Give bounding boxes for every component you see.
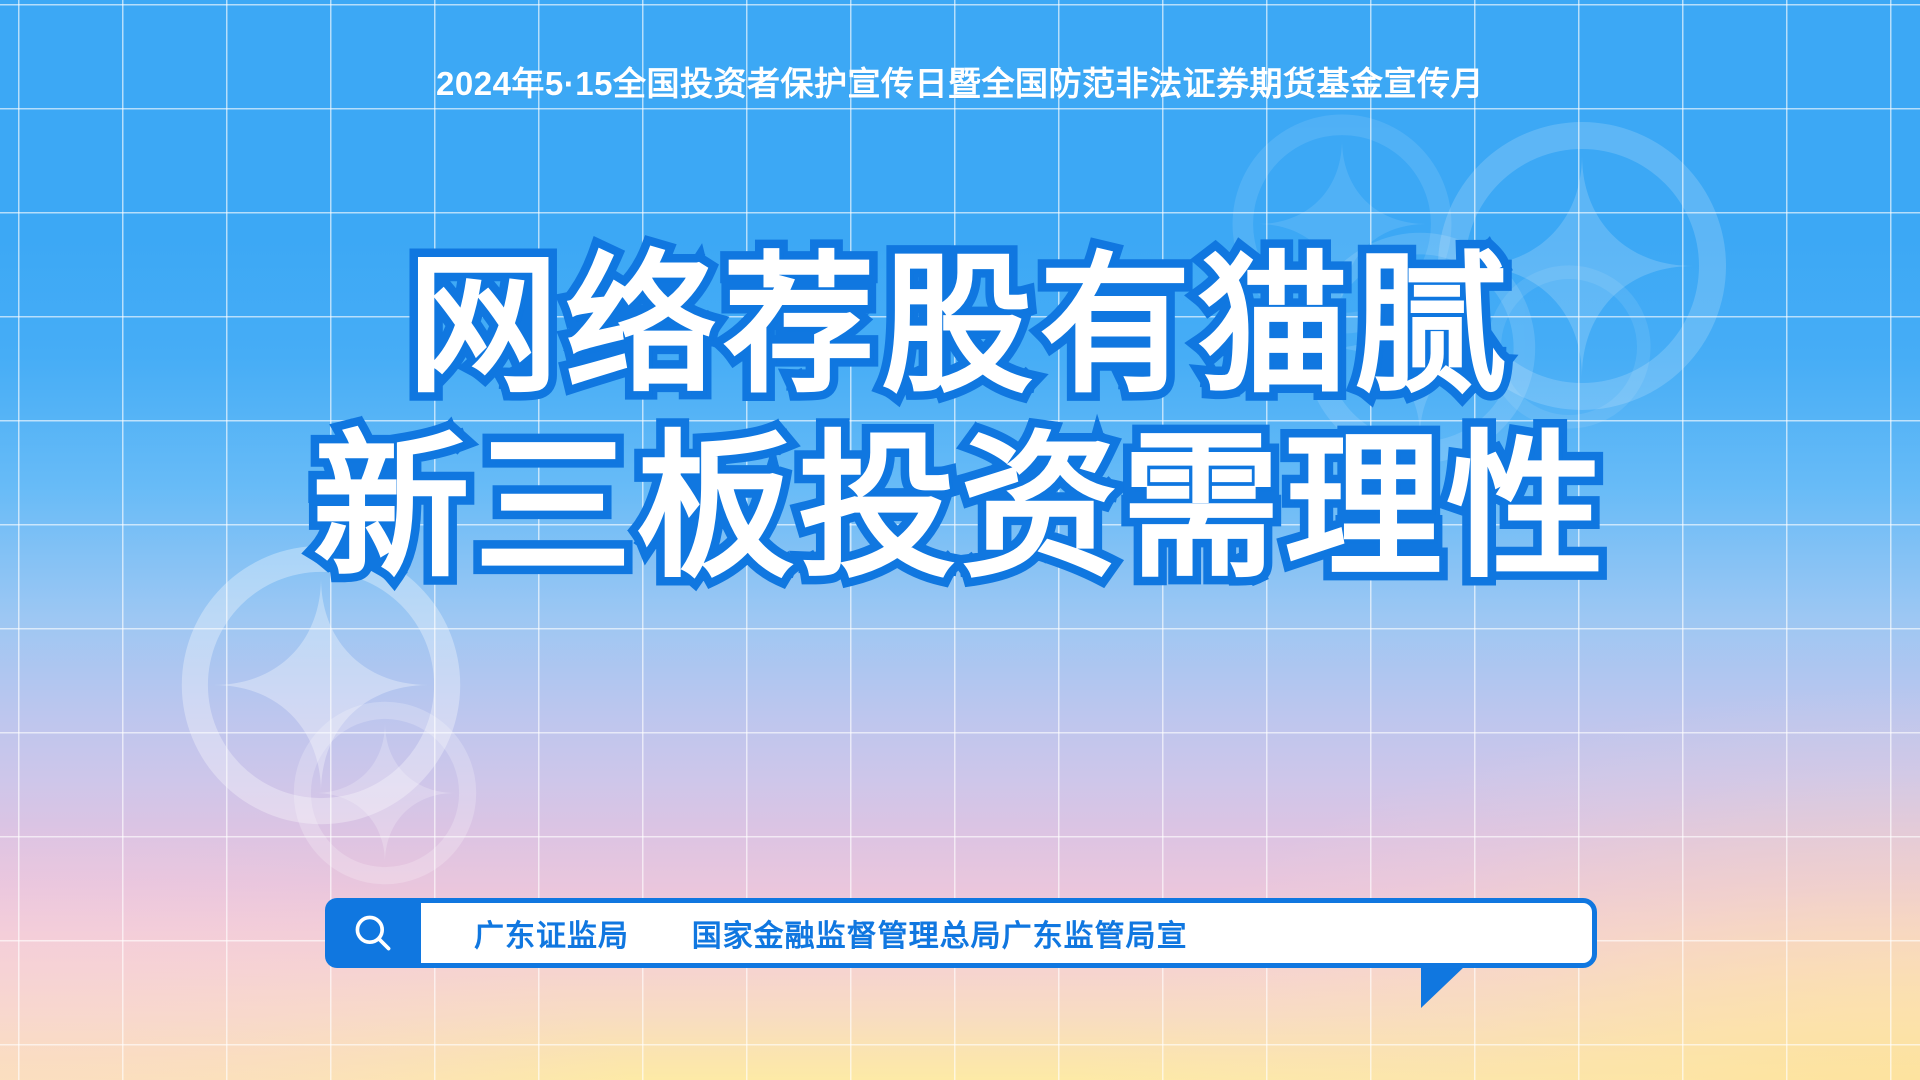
investor-protection-poster: 2024年5·15全国投资者保护宣传日暨全国防范非法证券期货基金宣传月 网络荐股… — [0, 0, 1920, 1080]
magnifier-icon-badge — [325, 898, 421, 968]
poster-title: 网络荐股有猫腻 新三板投资需理性 — [0, 238, 1920, 601]
title-line-1: 网络荐股有猫腻 — [0, 238, 1920, 416]
org-primary-label: 广东证监局 — [474, 920, 629, 953]
magnifier-icon — [351, 911, 395, 955]
organization-names: 广东证监局 国家金融监督管理总局广东监管局宣 — [474, 911, 1188, 955]
organization-banner-box: 广东证监局 国家金融监督管理总局广东监管局宣 — [413, 898, 1597, 968]
speech-bubble-tail — [1421, 966, 1465, 1008]
org-secondary-label: 国家金融监督管理总局广东监管局宣 — [692, 920, 1188, 953]
title-line-2: 新三板投资需理性 — [0, 416, 1920, 601]
organization-banner: 广东证监局 国家金融监督管理总局广东监管局宣 — [325, 898, 1597, 968]
campaign-header-text: 2024年5·15全国投资者保护宣传日暨全国防范非法证券期货基金宣传月 — [0, 57, 1920, 105]
